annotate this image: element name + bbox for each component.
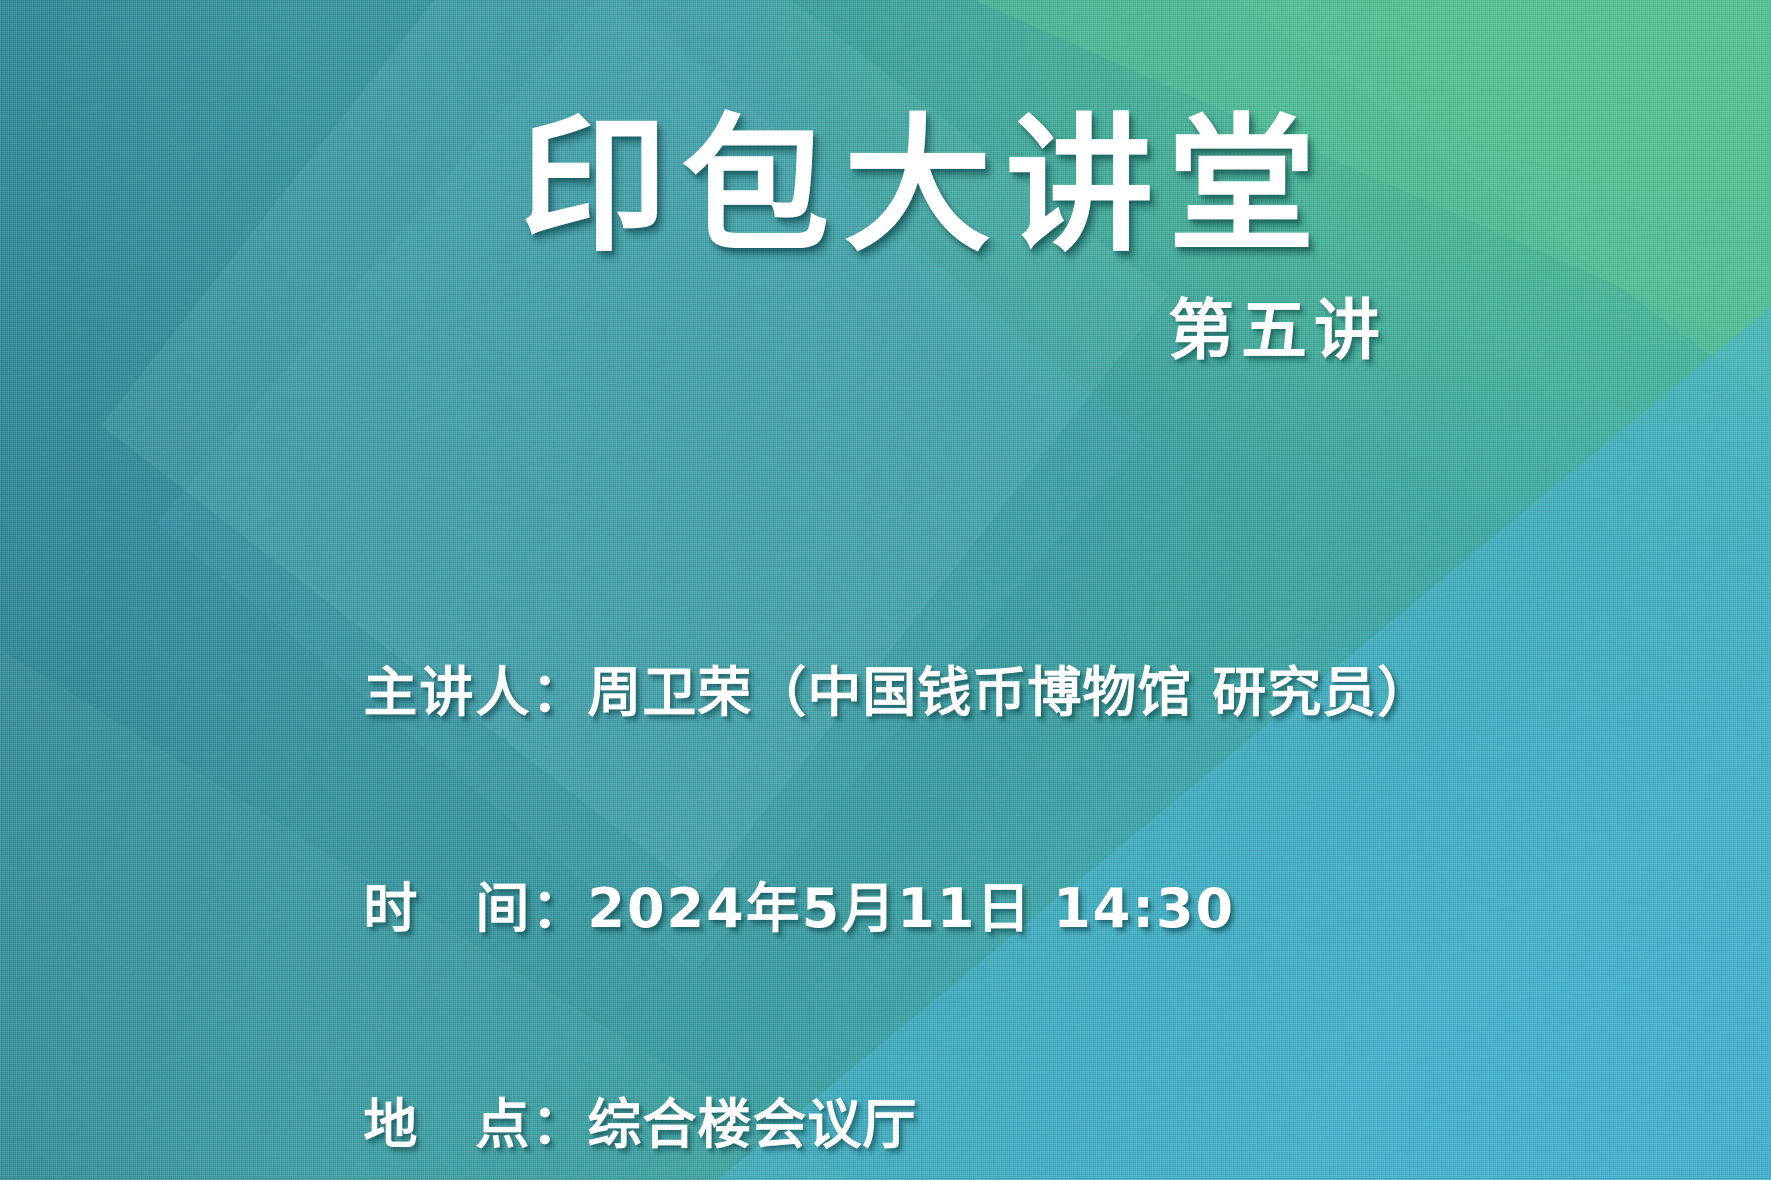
poster-subtitle: 第五讲 xyxy=(1168,298,1387,364)
poster-info-block: 主讲人：周卫荣（中国钱币博物馆 研究员） 时 间：2024年5月11日 14:3… xyxy=(205,612,1685,1180)
info-line-time: 时 间：2024年5月11日 14:30 xyxy=(205,828,1685,990)
info-label-time: 时 间： xyxy=(363,877,587,940)
info-value-speaker: 周卫荣（中国钱币博物馆 研究员） xyxy=(587,661,1432,724)
info-line-location: 地 点：综合楼会议厅 xyxy=(205,1044,1685,1180)
info-value-location: 综合楼会议厅 xyxy=(587,1093,917,1156)
poster-content: 印包大讲堂 第五讲 主讲人：周卫荣（中国钱币博物馆 研究员） 时 间：2024年… xyxy=(0,0,1771,1180)
event-poster: 印包大讲堂 第五讲 主讲人：周卫荣（中国钱币博物馆 研究员） 时 间：2024年… xyxy=(0,0,1771,1180)
poster-title: 印包大讲堂 xyxy=(0,112,1771,260)
info-label-speaker: 主讲人： xyxy=(363,661,587,724)
info-value-time: 2024年5月11日 14:30 xyxy=(587,877,1235,940)
info-line-speaker: 主讲人：周卫荣（中国钱币博物馆 研究员） xyxy=(205,612,1685,774)
info-label-location: 地 点： xyxy=(363,1093,587,1156)
